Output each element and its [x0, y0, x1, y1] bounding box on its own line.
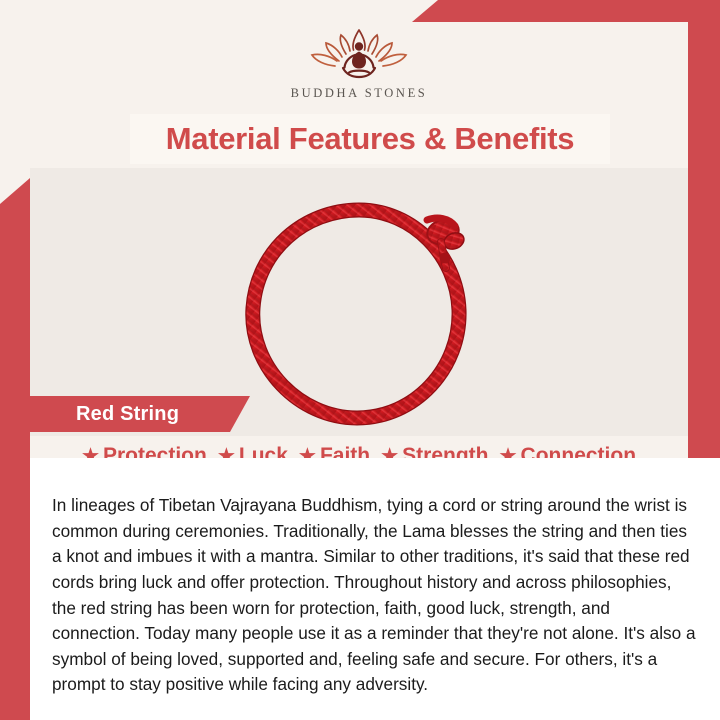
ribbon-label: Red String — [28, 396, 250, 432]
lotus-meditation-icon — [305, 24, 413, 84]
right-accent-band — [688, 0, 720, 496]
red-string-bracelet-image — [229, 196, 489, 432]
left-accent-band — [0, 178, 30, 720]
brand-name: BUDDHA STONES — [291, 86, 428, 101]
ribbon-label-text: Red String — [76, 403, 179, 426]
top-accent-band — [412, 0, 720, 22]
content-card: BUDDHA STONES Material Features & Benefi… — [30, 22, 688, 698]
infographic-page: BUDDHA STONES Material Features & Benefi… — [0, 0, 720, 720]
description-text: In lineages of Tibetan Vajrayana Buddhis… — [52, 493, 698, 698]
brand-logo: BUDDHA STONES — [30, 24, 688, 101]
title-banner: Material Features & Benefits — [130, 114, 610, 164]
description-panel: In lineages of Tibetan Vajrayana Buddhis… — [30, 458, 720, 720]
page-title: Material Features & Benefits — [166, 121, 575, 157]
